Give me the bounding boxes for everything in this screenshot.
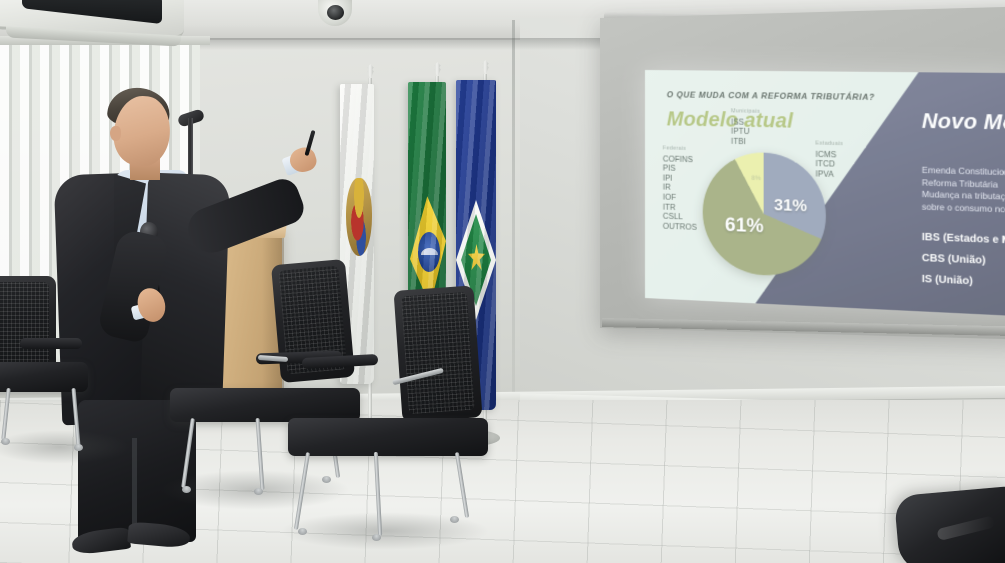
municipal-coat-of-arms	[346, 178, 372, 256]
chair-backrest	[393, 285, 482, 422]
dark-object-bottom-right	[894, 486, 1005, 563]
chair-foot	[254, 488, 263, 495]
legend-item: ISS	[731, 117, 760, 127]
pie-legend-municipais: Municipais ISS IPTU ITBI	[731, 107, 760, 147]
pie-slices	[703, 151, 826, 278]
ear	[110, 126, 121, 141]
pie-label-federais: 61%	[725, 215, 764, 239]
legend-item: IOF	[663, 192, 697, 203]
legend-group-title: Federais	[663, 144, 697, 154]
air-conditioner-vent	[22, 0, 162, 24]
security-camera-lens	[327, 5, 344, 20]
pie-chart: 31% 61% 8%	[703, 151, 826, 278]
slide-right-heading: Novo Mod	[922, 110, 1005, 136]
slide-left-heading: Modelo atual	[667, 108, 793, 133]
dark-object-highlight	[936, 515, 995, 541]
chair-foot	[74, 444, 83, 451]
chair-foot	[1, 438, 10, 445]
chair-mesh-panel	[0, 282, 49, 372]
presentation-room-scene: O QUE MUDA COM A REFORMA TRIBUTÁRIA? Mod…	[0, 0, 1005, 563]
legend-item: OUTROS	[663, 221, 697, 232]
chair-seat	[288, 418, 488, 456]
pie-legend-estaduais: Estaduais ICMS ITCD IPVA	[815, 139, 843, 179]
chair-seat	[170, 388, 360, 422]
pie-label-municipais: 8%	[751, 175, 761, 182]
legend-item: ITCD	[815, 159, 843, 170]
chair-mesh-panel	[401, 292, 475, 414]
chair-foot	[372, 534, 381, 541]
chair-foot	[322, 476, 331, 483]
legend-item: IPTU	[731, 127, 760, 137]
pie-legend-federais: Federais COFINS PIS IPI IR IOF ITR CSLL …	[663, 144, 697, 232]
slide-right-list: IBS (Estados e M CBS (União) IS (União)	[922, 228, 1005, 295]
legend-group-title: Estaduais	[815, 139, 843, 149]
legend-group-title: Municipais	[731, 107, 760, 117]
legend-item: PIS	[663, 164, 697, 175]
legend-item: ITBI	[731, 136, 760, 146]
pie-label-estaduais: 31%	[774, 197, 807, 217]
slide-kicker: O QUE MUDA COM A REFORMA TRIBUTÁRIA?	[667, 90, 875, 102]
chair-foot	[450, 516, 459, 523]
slide-right-body: Emenda Constitucion Reforma Tributária M…	[922, 165, 1005, 217]
chair-armrest	[20, 338, 82, 349]
legend-item: IPVA	[815, 169, 843, 180]
projected-slide: O QUE MUDA COM A REFORMA TRIBUTÁRIA? Mod…	[645, 70, 1005, 316]
legend-item: ICMS	[815, 149, 843, 160]
chair-foot	[182, 486, 191, 493]
right-list-item: IS (União)	[922, 269, 1005, 294]
wall-corner-seam	[512, 20, 515, 440]
chair-foot	[298, 528, 307, 535]
